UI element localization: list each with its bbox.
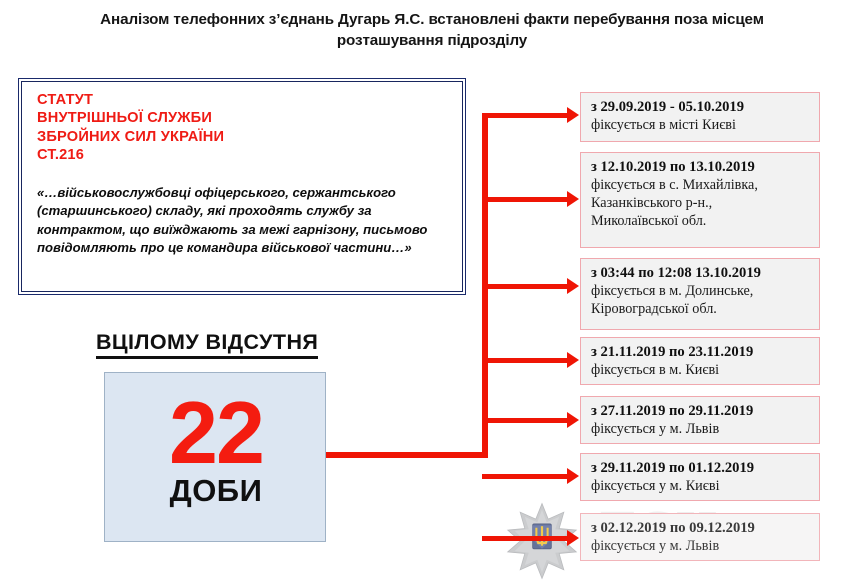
statute-box: СТАТУТ ВНУТРІШНЬОЇ СЛУЖБИ ЗБРОЙНИХ СИЛ У… [18, 78, 466, 295]
episode-place: фіксується в м. Долинське, Кіровоградськ… [591, 282, 811, 318]
arrow-head-7 [567, 530, 579, 546]
summary-subheading: ВЦІЛОМУ ВІДСУТНЯ [96, 330, 318, 359]
slide-canvas: ТСН Аналізом телефонних з’єднань Дугарь … [0, 0, 858, 580]
connector-branch-6 [482, 474, 569, 479]
episode-dates: з 29.09.2019 - 05.10.2019 [591, 98, 811, 116]
episode-box[interactable]: з 12.10.2019 по 13.10.2019фіксується в с… [580, 152, 820, 248]
episode-place: фіксується у м. Львів [591, 420, 811, 438]
total-days-unit: ДОБИ [105, 473, 327, 509]
total-days-number: 22 [105, 391, 327, 475]
arrow-head-1 [567, 107, 579, 123]
episode-dates: з 21.11.2019 по 23.11.2019 [591, 343, 811, 361]
episode-place: фіксується в м. Києві [591, 361, 811, 379]
episode-dates: з 29.11.2019 по 01.12.2019 [591, 459, 811, 477]
statute-heading: СТАТУТ ВНУТРІШНЬОЇ СЛУЖБИ ЗБРОЙНИХ СИЛ У… [37, 91, 449, 165]
episode-dates: з 02.12.2019 по 09.12.2019 [591, 519, 811, 537]
episode-box[interactable]: з 03:44 по 12:08 13.10.2019фіксується в … [580, 258, 820, 330]
connector-branch-3 [482, 284, 569, 289]
arrow-head-3 [567, 278, 579, 294]
episode-box[interactable]: з 29.11.2019 по 01.12.2019фіксується у м… [580, 453, 820, 501]
statute-quote: «…військовослужбовці офіцерського, сержа… [37, 184, 449, 258]
episode-place: фіксується у м. Києві [591, 477, 811, 495]
total-days-box: 22 ДОБИ [104, 372, 326, 542]
arrow-head-5 [567, 412, 579, 428]
episode-place: фіксується в с. Михайлівка, Казанківсько… [591, 176, 811, 230]
episode-dates: з 03:44 по 12:08 13.10.2019 [591, 264, 811, 282]
episode-box[interactable]: з 29.09.2019 - 05.10.2019фіксується в мі… [580, 92, 820, 142]
connector-branch-7 [482, 536, 569, 541]
connector-feed-line [326, 452, 488, 458]
episode-box[interactable]: з 02.12.2019 по 09.12.2019фіксується у м… [580, 513, 820, 561]
episode-box[interactable]: з 21.11.2019 по 23.11.2019фіксується в м… [580, 337, 820, 385]
arrow-head-2 [567, 191, 579, 207]
arrow-head-4 [567, 352, 579, 368]
arrow-head-6 [567, 468, 579, 484]
episode-dates: з 27.11.2019 по 29.11.2019 [591, 402, 811, 420]
page-title: Аналізом телефонних з’єднань Дугарь Я.С.… [62, 9, 802, 51]
episode-box[interactable]: з 27.11.2019 по 29.11.2019фіксується у м… [580, 396, 820, 444]
episode-place: фіксується в місті Києві [591, 116, 811, 134]
connector-branch-4 [482, 358, 569, 363]
episode-place: фіксується у м. Львів [591, 537, 811, 555]
episode-dates: з 12.10.2019 по 13.10.2019 [591, 158, 811, 176]
connector-branch-1 [482, 113, 569, 118]
connector-branch-2 [482, 197, 569, 202]
connector-branch-5 [482, 418, 569, 423]
